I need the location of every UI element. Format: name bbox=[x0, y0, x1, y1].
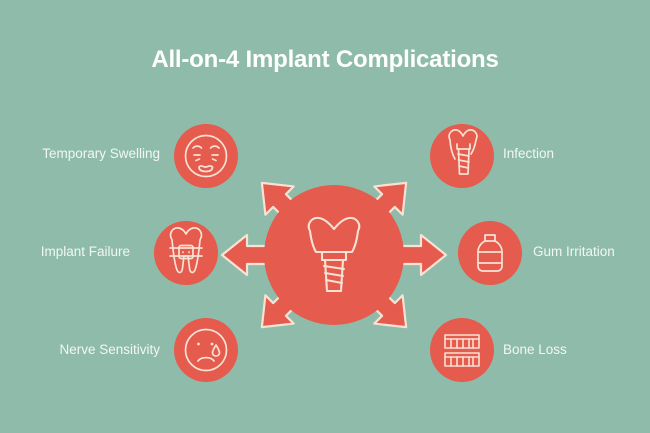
node-infection[interactable] bbox=[430, 124, 494, 188]
label-nerve-sensitivity: Nerve Sensitivity bbox=[10, 342, 160, 357]
node-circle-implant-failure bbox=[154, 221, 218, 285]
node-gum-irritation[interactable] bbox=[458, 221, 522, 285]
node-circle-bone-loss bbox=[430, 318, 494, 382]
node-circle-temporary-swelling bbox=[174, 124, 238, 188]
label-gum-irritation: Gum Irritation bbox=[533, 244, 643, 259]
label-implant-failure: Implant Failure bbox=[10, 244, 130, 259]
label-bone-loss: Bone Loss bbox=[503, 342, 643, 357]
label-temporary-swelling: Temporary Swelling bbox=[10, 146, 160, 161]
node-implant-failure[interactable] bbox=[154, 221, 218, 285]
node-circle-gum-irritation bbox=[458, 221, 522, 285]
infographic-canvas: All-on-4 Implant Complications bbox=[0, 0, 650, 433]
node-nerve-sensitivity[interactable] bbox=[174, 318, 238, 382]
center-hub-circle bbox=[264, 185, 404, 325]
complications-diagram bbox=[0, 0, 650, 433]
label-infection: Infection bbox=[503, 146, 643, 161]
node-bone-loss[interactable] bbox=[430, 318, 494, 382]
node-temporary-swelling[interactable] bbox=[174, 124, 238, 188]
node-circle-nerve-sensitivity bbox=[174, 318, 238, 382]
center-hub[interactable] bbox=[264, 185, 404, 325]
